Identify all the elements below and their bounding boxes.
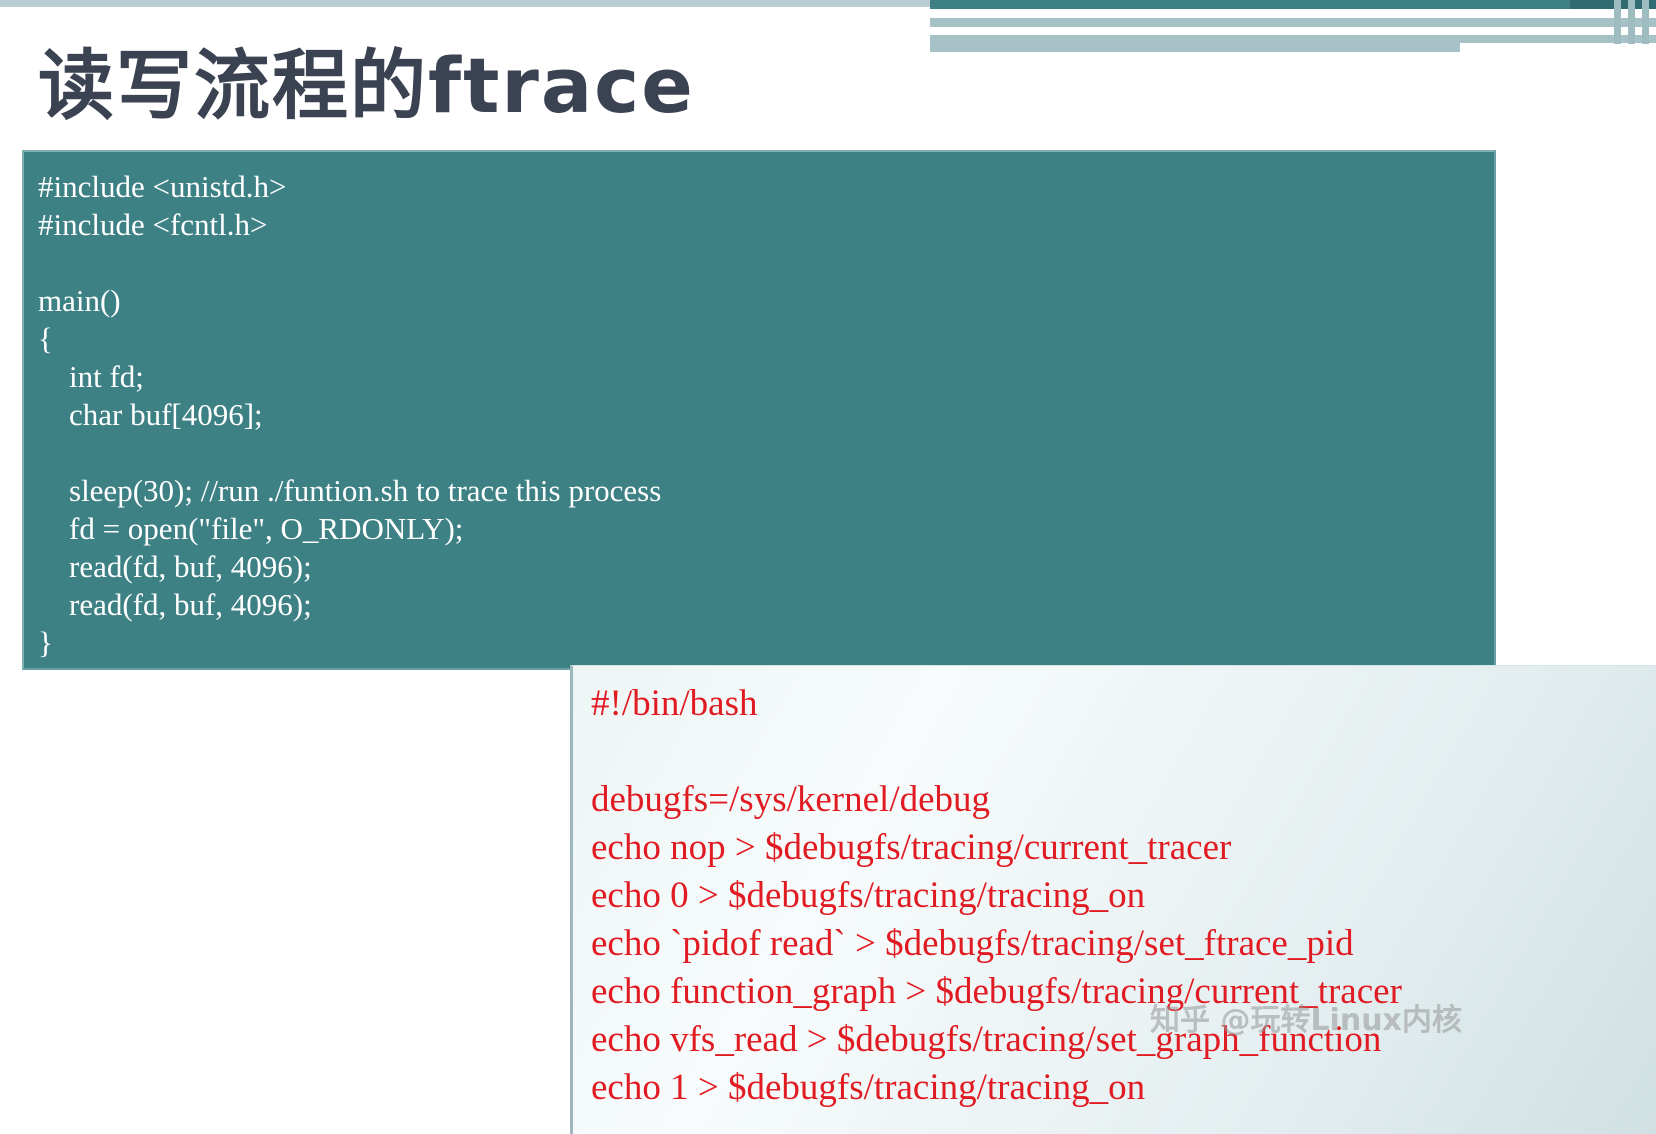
deco-bar-dark bbox=[930, 0, 1570, 9]
deco-vertical-strip-3 bbox=[1642, 0, 1649, 44]
slide-title: 读写流程的ftrace bbox=[38, 24, 695, 134]
deco-vertical-strip-1 bbox=[1614, 0, 1621, 44]
deco-vertical-strip-2 bbox=[1628, 0, 1635, 44]
deco-bar-low-right bbox=[1460, 35, 1656, 43]
deco-bar-white bbox=[930, 27, 1495, 35]
header-decoration-bars bbox=[930, 0, 1656, 52]
slide-canvas: 读写流程的ftrace #include <unistd.h> #include… bbox=[0, 0, 1656, 1134]
c-code-panel: #include <unistd.h> #include <fcntl.h> m… bbox=[22, 150, 1496, 670]
bash-script-text: #!/bin/bash debugfs=/sys/kernel/debug ec… bbox=[591, 680, 1402, 1112]
bash-script-panel: #!/bin/bash debugfs=/sys/kernel/debug ec… bbox=[570, 665, 1656, 1134]
c-code-text: #include <unistd.h> #include <fcntl.h> m… bbox=[38, 168, 661, 662]
deco-bar-mid bbox=[930, 18, 1656, 27]
deco-bar-gap bbox=[930, 9, 1656, 18]
deco-bar-low bbox=[930, 35, 1460, 52]
